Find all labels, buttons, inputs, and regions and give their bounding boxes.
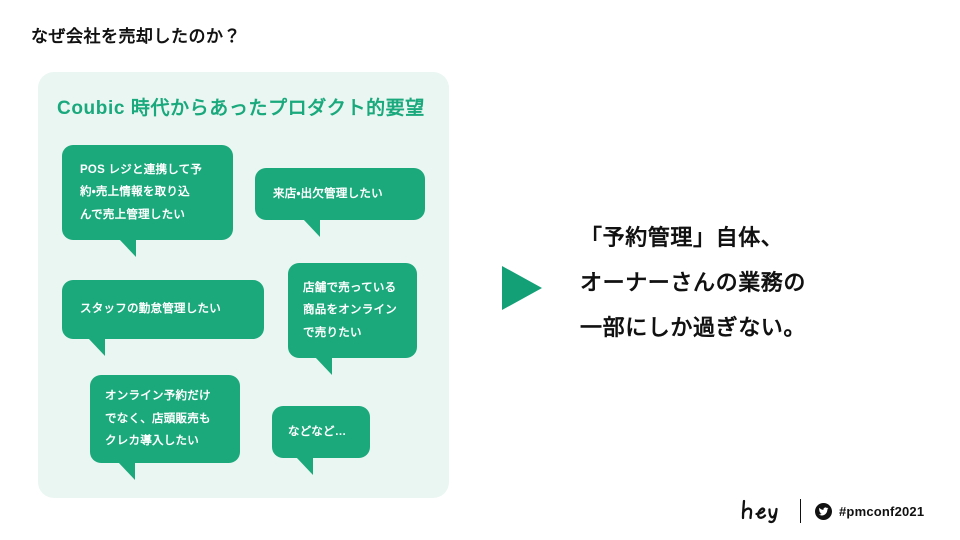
statement-line-2: オーナーさんの業務の [580, 260, 920, 305]
bubble-tail-icon [88, 338, 105, 356]
slide-canvas: なぜ会社を売却したのか？ Coubic 時代からあったプロダクト的要望 POS … [0, 0, 960, 540]
speech-bubble-text: 店舗で売っている 商品をオンライン で売りたい [303, 277, 397, 344]
conference-hashtag: #pmconf2021 [839, 504, 924, 519]
product-requests-card: Coubic 時代からあったプロダクト的要望 POS レジと連携して予 約・売上… [38, 72, 449, 498]
speech-bubble-etc: などなど… [272, 406, 370, 458]
speech-bubble-visit-attendance: 来店・出欠管理したい [255, 168, 425, 220]
speech-bubble-staff-attendance: スタッフの勤怠管理したい [62, 280, 264, 339]
speech-bubble-sell-online: 店舗で売っている 商品をオンライン で売りたい [288, 263, 417, 358]
statement-block: 「予約管理」自体、 オーナーさんの業務の 一部にしか過ぎない。 [580, 215, 920, 350]
speech-bubble-text: スタッフの勤怠管理したい [80, 298, 221, 320]
hey-logo [740, 498, 786, 524]
speech-bubble-pos-register: POS レジと連携して予 約・売上情報を取り込 んで売上管理したい [62, 145, 233, 240]
speech-bubble-credit-card: オンライン予約だけ でなく、店頭販売も クレカ導入したい [90, 375, 240, 463]
card-heading: Coubic 時代からあったプロダクト的要望 [57, 93, 425, 120]
bubble-tail-icon [119, 239, 136, 257]
bubble-tail-icon [315, 357, 332, 375]
speech-bubble-text: などなど… [288, 421, 347, 443]
speech-bubble-text: 来店・出欠管理したい [273, 183, 383, 205]
speech-bubble-text: オンライン予約だけ でなく、店頭販売も クレカ導入したい [105, 385, 211, 452]
statement-line-3: 一部にしか過ぎない。 [580, 305, 920, 350]
speech-bubble-text: POS レジと連携して予 約・売上情報を取り込 んで売上管理したい [80, 159, 202, 226]
bubble-tail-icon [303, 219, 320, 237]
play-triangle-icon [502, 266, 542, 310]
bubble-tail-icon [296, 457, 313, 475]
page-title: なぜ会社を売却したのか？ [31, 22, 241, 47]
bubble-tail-icon [118, 462, 135, 480]
twitter-icon [815, 503, 832, 520]
slide-footer: #pmconf2021 [740, 497, 924, 525]
statement-line-1: 「予約管理」自体、 [580, 215, 920, 260]
footer-divider [800, 499, 801, 523]
